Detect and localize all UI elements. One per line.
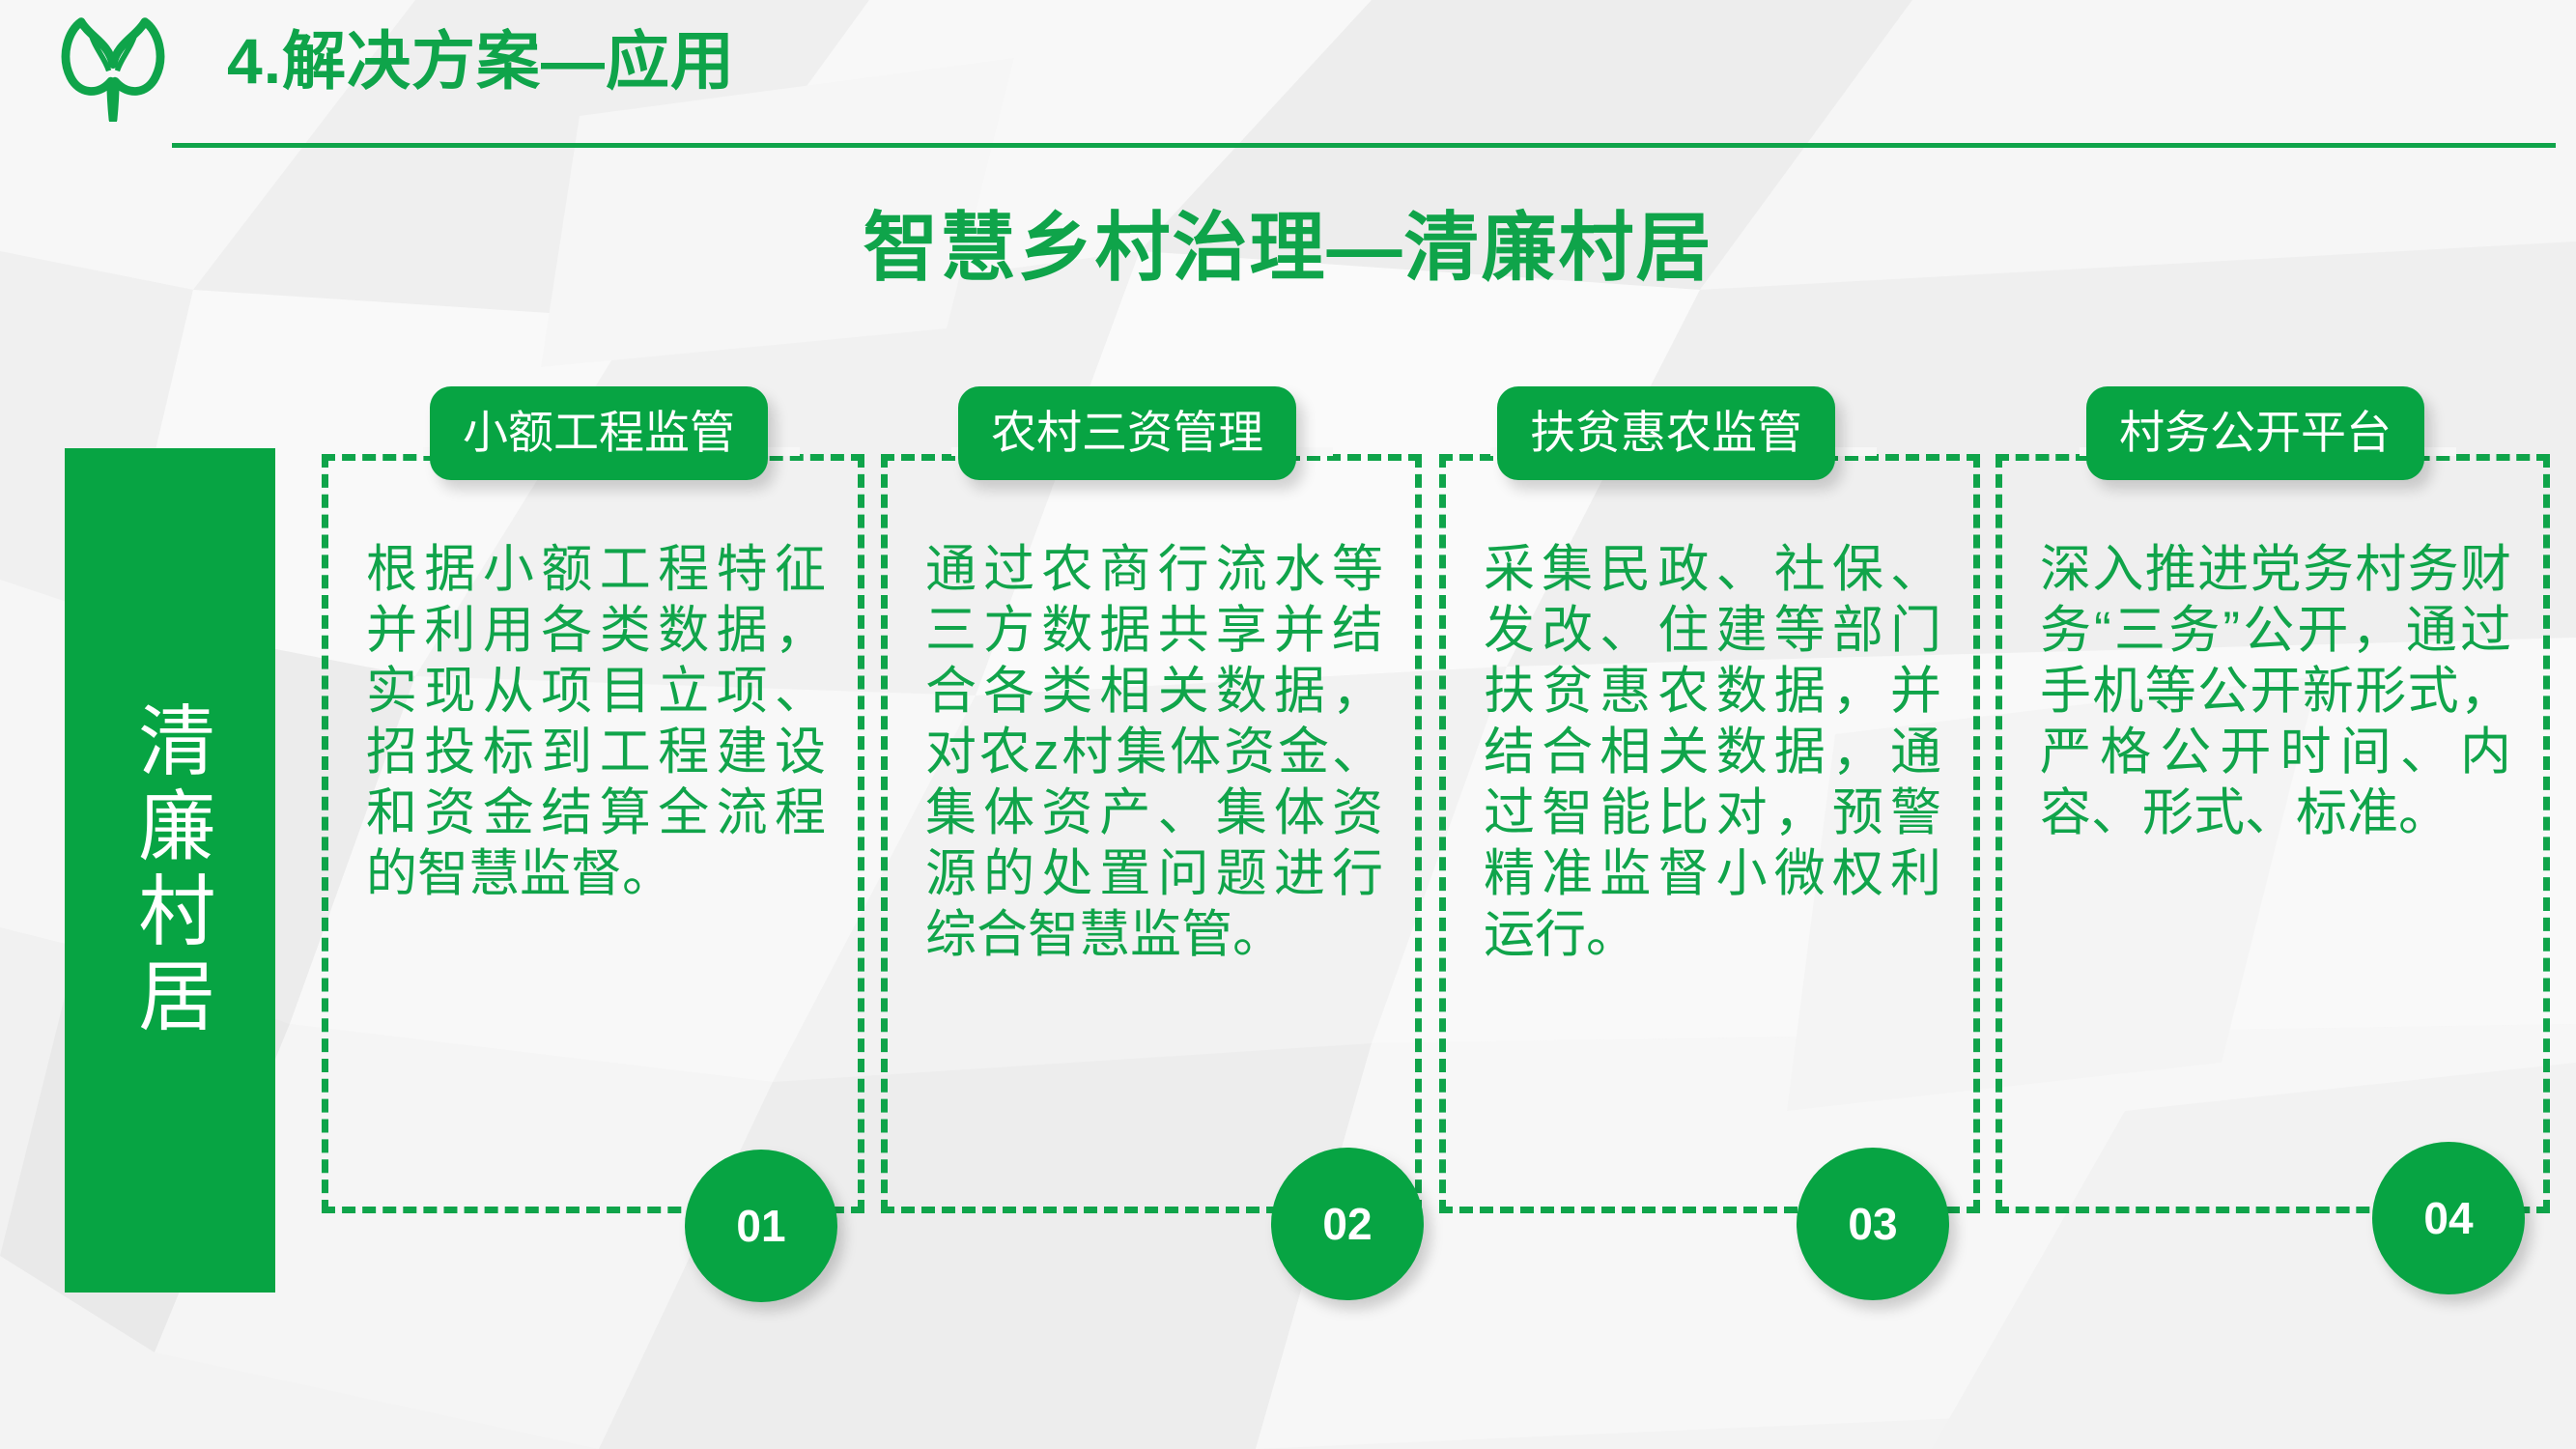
card-title-pill-4[interactable]: 村务公开平台 <box>2086 386 2424 480</box>
card-number-badge-1: 01 <box>685 1150 837 1302</box>
feature-card-2[interactable]: 农村三资管理 通过农商行流水等三方数据共享并结合各类相关数据，对农z村集体资金、… <box>881 454 1422 1213</box>
card-title-pill-2[interactable]: 农村三资管理 <box>958 386 1296 480</box>
card-body-2: 通过农商行流水等三方数据共享并结合各类相关数据，对农z村集体资金、集体资产、集体… <box>925 539 1383 965</box>
side-bar-label: 清廉村居 <box>128 700 212 1040</box>
page-header: 4.解决方案—应用 <box>0 0 2576 155</box>
card-title-pill-3[interactable]: 扶贫惠农监管 <box>1497 386 1835 480</box>
side-bar: 清廉村居 <box>65 448 275 1293</box>
card-body-3: 采集民政、社保、发改、住建等部门扶贫惠农数据，并结合相关数据，通过智能比对，预警… <box>1484 539 1941 965</box>
feature-card-4[interactable]: 村务公开平台 深入推进党务村务财务“三务”公开，通过手机等公开新形式，严格公开时… <box>1996 454 2550 1213</box>
leaf-icon <box>60 15 166 122</box>
card-body-1: 根据小额工程特征并利用各类数据，实现从项目立项、招投标到工程建设和资金结算全流程… <box>366 539 826 904</box>
feature-card-1[interactable]: 小额工程监管 根据小额工程特征并利用各类数据，实现从项目立项、招投标到工程建设和… <box>322 454 864 1213</box>
card-title-pill-1[interactable]: 小额工程监管 <box>430 386 768 480</box>
card-body-4: 深入推进党务村务财务“三务”公开，通过手机等公开新形式，严格公开时间、内容、形式… <box>2040 539 2511 843</box>
card-number-badge-4: 04 <box>2372 1142 2525 1294</box>
header-divider <box>172 143 2556 148</box>
card-number-badge-2: 02 <box>1271 1148 1424 1300</box>
feature-card-3[interactable]: 扶贫惠农监管 采集民政、社保、发改、住建等部门扶贫惠农数据，并结合相关数据，通过… <box>1439 454 1980 1213</box>
card-number-badge-3: 03 <box>1797 1148 1949 1300</box>
page-title: 4.解决方案—应用 <box>227 15 735 107</box>
section-title: 智慧乡村治理—清廉村居 <box>0 199 2576 296</box>
